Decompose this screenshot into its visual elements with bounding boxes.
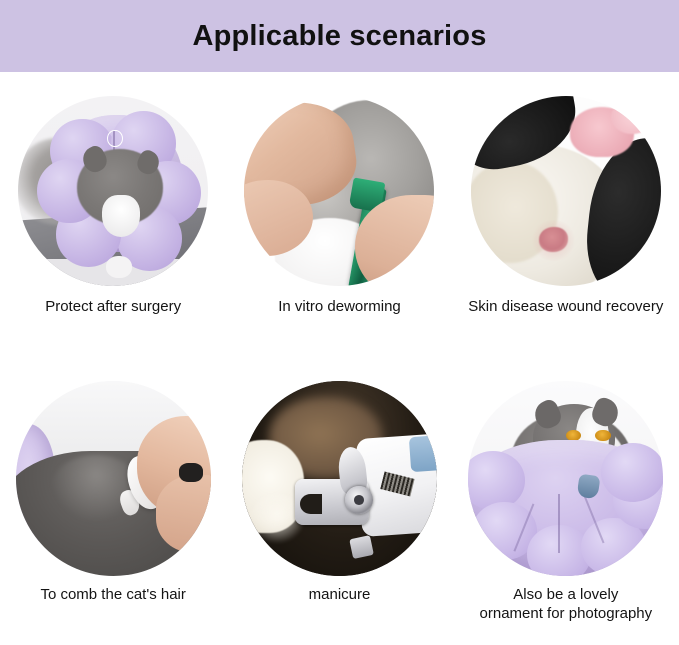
scenario-caption: To comb the cat's hair — [0, 586, 233, 605]
scenario-card-comb-the-cats-hair: To comb the cat's hair — [0, 381, 226, 645]
scenario-card-manicure: manicure — [226, 381, 452, 645]
black-and-white-fur-with-pink-skin-wound-image — [471, 96, 661, 286]
persian-cat-in-lavender-flower-collar-image — [468, 381, 663, 576]
scenario-card-protect-after-surgery: Protect after surgery — [0, 96, 226, 381]
hand-combing-dark-grey-cat-fur-image — [16, 381, 211, 576]
header-banner: Applicable scenarios — [0, 0, 679, 72]
cat-wearing-lavender-recovery-collar-on-grey-mat-image — [18, 96, 208, 286]
applicable-scenarios-infographic: Applicable scenarios — [0, 0, 679, 645]
scenario-card-skin-disease-wound-recovery: Skin disease wound recovery — [453, 96, 679, 381]
scenario-caption: Also be a lovely ornament for photograph… — [446, 586, 679, 624]
scenario-row-2: To comb the cat's hair — [0, 381, 679, 645]
nail-clipper-trimming-white-paw-image — [242, 381, 437, 576]
scenario-caption: In vitro deworming — [220, 298, 460, 317]
hands-using-green-flea-comb-on-grey-fur-image — [244, 96, 434, 286]
page-title: Applicable scenarios — [192, 22, 486, 51]
scenario-caption: Protect after surgery — [0, 298, 233, 317]
scenario-grid: Protect after surgery In vitro deworming — [0, 72, 679, 645]
scenario-caption: Skin disease wound recovery — [446, 298, 679, 317]
scenario-caption: manicure — [220, 586, 460, 605]
scenario-card-in-vitro-deworming: In vitro deworming — [226, 96, 452, 381]
scenario-row-1: Protect after surgery In vitro deworming — [0, 96, 679, 381]
scenario-card-ornament-for-photography: Also be a lovely ornament for photograph… — [453, 381, 679, 645]
